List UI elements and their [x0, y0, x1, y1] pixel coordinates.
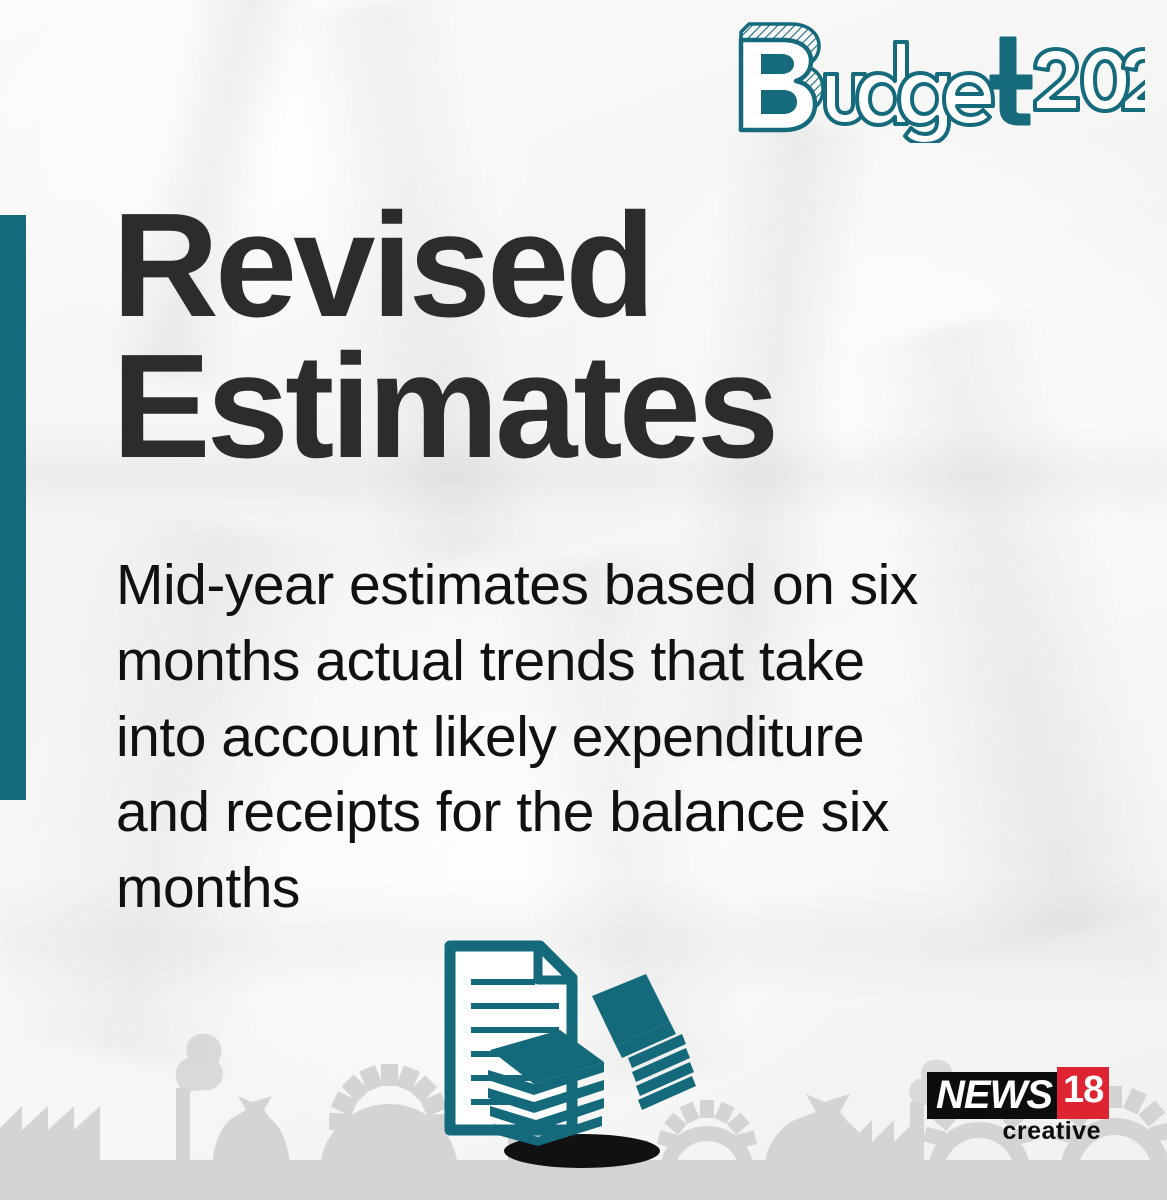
- body-line-4: and receipts for the balance six: [116, 775, 1116, 851]
- body-line-5: months: [116, 851, 1116, 927]
- infographic-poster: Revised Estimates Mid-year estimates bas…: [0, 0, 1167, 1200]
- news18-subtitle: creative: [927, 1117, 1113, 1145]
- logo-year-2021: [1035, 49, 1145, 111]
- news18-wordmark: NEWS: [927, 1072, 1059, 1119]
- logo-letter-t: [991, 38, 1031, 124]
- document-money-illustration: [432, 938, 732, 1173]
- body-line-3: into account likely expenditure: [116, 700, 1116, 776]
- news18-creative-logo[interactable]: NEWS 18 creative: [927, 1072, 1113, 1148]
- description-text: Mid-year estimates based on six months a…: [116, 548, 1116, 927]
- headline-line-2: Estimates: [112, 337, 992, 478]
- headline-line-1: Revised: [112, 196, 992, 337]
- money-stack-rear-icon: [592, 974, 696, 1110]
- logo-letter-B: [741, 24, 823, 130]
- accent-bar: [0, 215, 26, 800]
- logo-letters-udge: [825, 42, 993, 143]
- news18-logo-row: NEWS 18: [927, 1072, 1113, 1119]
- budget-2021-logo: [725, 18, 1145, 143]
- body-line-2: months actual trends that take: [116, 624, 1116, 700]
- body-line-1: Mid-year estimates based on six: [116, 548, 1116, 624]
- page-title: Revised Estimates: [112, 196, 992, 477]
- news18-number-badge: 18: [1057, 1067, 1109, 1119]
